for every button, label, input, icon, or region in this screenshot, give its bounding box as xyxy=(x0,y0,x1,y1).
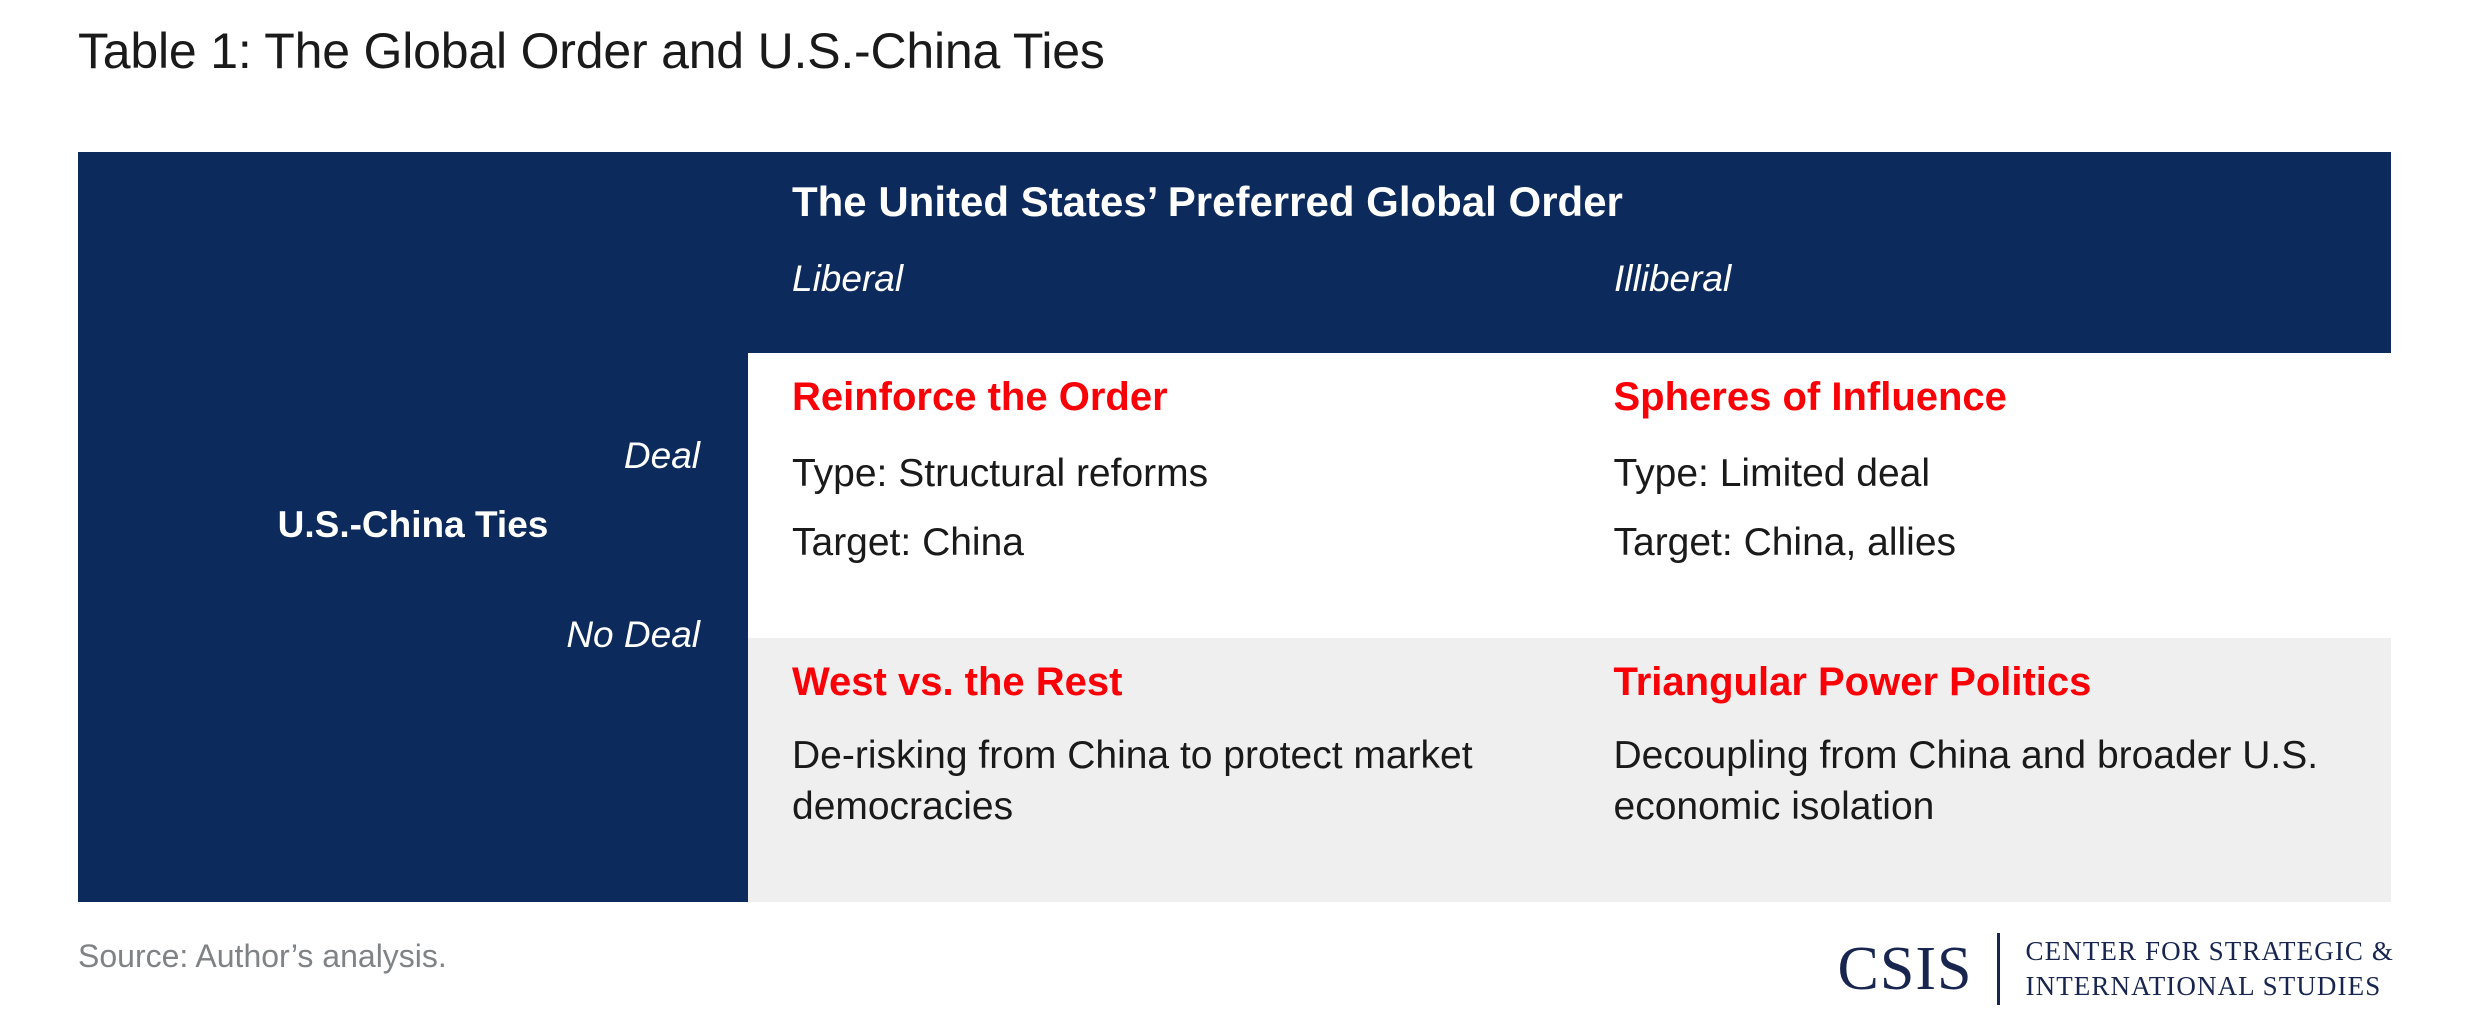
column-group-header: The United States’ Preferred Global Orde… xyxy=(792,178,1623,226)
row-header-column: U.S.-China Ties Deal No Deal xyxy=(78,152,748,902)
cell-type-line: Type: Limited deal xyxy=(1614,445,2348,504)
matrix-table: U.S.-China Ties Deal No Deal The United … xyxy=(78,152,2391,902)
cell-type-line: Type: Structural reforms xyxy=(792,445,1526,504)
csis-logo: CSIS CENTER FOR STRATEGIC & INTERNATIONA… xyxy=(1838,930,2394,1008)
logo-tagline: CENTER FOR STRATEGIC & INTERNATIONAL STU… xyxy=(2000,934,2394,1003)
figure-page: Table 1: The Global Order and U.S.-China… xyxy=(0,0,2482,1018)
matrix-body: Reinforce the Order Type: Structural ref… xyxy=(748,353,2391,902)
cell-heading: Spheres of Influence xyxy=(1614,375,2348,419)
column-label-liberal: Liberal xyxy=(792,258,903,300)
cell-nodeal-liberal: West vs. the Rest De-risking from China … xyxy=(748,638,1570,902)
column-header-band: The United States’ Preferred Global Orde… xyxy=(748,152,2391,353)
cell-description: De-risking from China to protect market … xyxy=(792,730,1526,833)
table-corner-label: U.S.-China Ties xyxy=(78,502,748,547)
logo-tagline-line-1: CENTER FOR STRATEGIC & xyxy=(2026,934,2394,969)
table-row: Reinforce the Order Type: Structural ref… xyxy=(748,353,2391,638)
row-label-no-deal: No Deal xyxy=(566,614,700,656)
logo-tagline-line-2: INTERNATIONAL STUDIES xyxy=(2026,969,2394,1004)
cell-heading: West vs. the Rest xyxy=(792,660,1526,704)
cell-description: Decoupling from China and broader U.S. e… xyxy=(1614,730,2348,833)
table-row: West vs. the Rest De-risking from China … xyxy=(748,638,2391,902)
row-label-deal: Deal xyxy=(624,435,700,477)
cell-deal-illiberal: Spheres of Influence Type: Limited deal … xyxy=(1570,353,2392,638)
source-note: Source: Author’s analysis. xyxy=(78,938,447,975)
cell-heading: Triangular Power Politics xyxy=(1614,660,2348,704)
column-label-illiberal: Illiberal xyxy=(1614,258,1731,300)
cell-deal-liberal: Reinforce the Order Type: Structural ref… xyxy=(748,353,1570,638)
page-title: Table 1: The Global Order and U.S.-China… xyxy=(78,22,1105,80)
csis-wordmark: CSIS xyxy=(1838,938,1997,1000)
cell-heading: Reinforce the Order xyxy=(792,375,1526,419)
cell-target-line: Target: China, allies xyxy=(1614,514,2348,573)
cell-nodeal-illiberal: Triangular Power Politics Decoupling fro… xyxy=(1570,638,2392,902)
cell-target-line: Target: China xyxy=(792,514,1526,573)
